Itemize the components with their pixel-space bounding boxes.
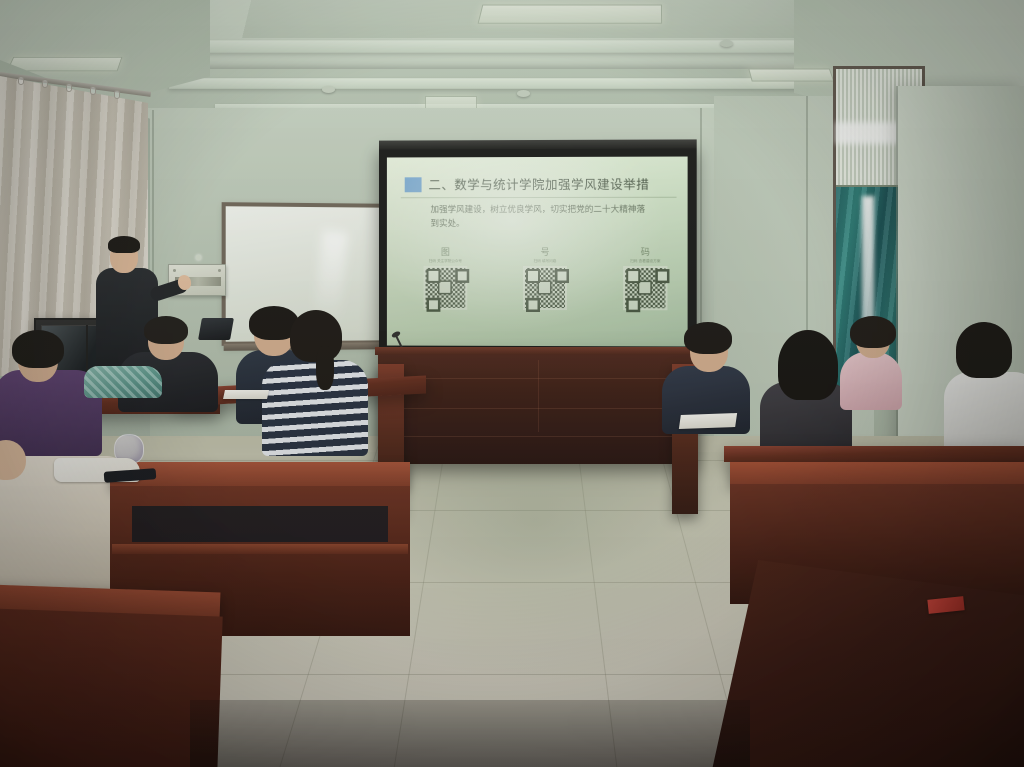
qr-heading-glyph: 图 — [441, 249, 450, 258]
ceiling-light-fixture — [478, 5, 663, 24]
desk-row-right-mid — [724, 446, 1024, 462]
slide-accent-square — [405, 177, 422, 192]
classroom-photo: 二、数学与统计学院加强学风建设举措 加强学风建设，树立优良学风，切实把党的二十大… — [0, 0, 1024, 767]
ceiling-light-fixture — [7, 57, 123, 71]
curtain-ring — [114, 90, 120, 99]
qr-heading-glyph: 号 — [540, 249, 549, 258]
slide-qr-item: 码 扫码 查看建设方案 — [614, 249, 676, 310]
curtain-ring — [18, 76, 24, 85]
projection-screen: 二、数学与统计学院加强学风建设举措 加强学风建设，树立优良学风，切实把党的二十大… — [379, 147, 697, 356]
qr-caption: 扫码 关注学院公众号 — [429, 259, 462, 264]
panel-screw-icon — [218, 269, 221, 272]
laptop[interactable] — [198, 318, 234, 340]
open-notebook — [679, 413, 737, 429]
desk-front-right — [712, 560, 1024, 767]
slide-qr-item: 图 扫码 关注学院公众号 — [415, 249, 477, 310]
slide-qr-item: 号 扫码 填写问卷 — [514, 249, 576, 310]
front-conference-table — [378, 352, 698, 464]
screen-housing — [379, 139, 697, 149]
panel-indicator-icon — [196, 255, 201, 260]
smoke-detector-icon — [720, 40, 733, 47]
curtain-ring — [66, 83, 72, 92]
desk-shelf-shadow — [132, 506, 388, 542]
qr-caption: 扫码 填写问卷 — [534, 259, 557, 264]
slide-title-underline — [401, 197, 677, 199]
qr-caption: 扫码 查看建设方案 — [630, 259, 660, 264]
qr-code-icon — [424, 266, 468, 310]
foreground-shadow — [190, 700, 750, 767]
paper-sheet — [223, 390, 269, 399]
presentation-slide: 二、数学与统计学院加强学风建设举措 加强学风建设，树立优良学风，切实把党的二十大… — [387, 157, 688, 347]
panel-screw-icon — [173, 269, 176, 272]
slide-body-text: 加强学风建设，树立优良学风，切实把党的二十大精神落到实处。 — [430, 204, 648, 232]
wall-seam — [700, 108, 702, 348]
presenter-hair — [108, 236, 140, 253]
wall-seam — [806, 96, 808, 356]
smoke-detector-icon — [322, 86, 335, 93]
teal-patterned-bag — [84, 366, 162, 398]
curtain-ring — [90, 86, 96, 95]
table-top-edge — [375, 347, 701, 355]
qr-heading-glyph: 码 — [641, 249, 650, 258]
smoke-detector-icon — [517, 90, 530, 97]
slide-title: 二、数学与统计学院加强学风建设举措 — [429, 174, 678, 194]
desk-shelf-edge — [112, 544, 408, 554]
desk-top-right-mid — [730, 462, 1024, 486]
qr-code-icon — [523, 266, 567, 310]
curtain-ring — [42, 79, 48, 88]
slide-qr-row: 图 扫码 关注学院公众号 号 扫码 填写问卷 码 扫码 查看建设方案 — [415, 249, 677, 310]
ceiling-light-fixture — [748, 69, 834, 82]
qr-code-icon — [623, 266, 667, 310]
